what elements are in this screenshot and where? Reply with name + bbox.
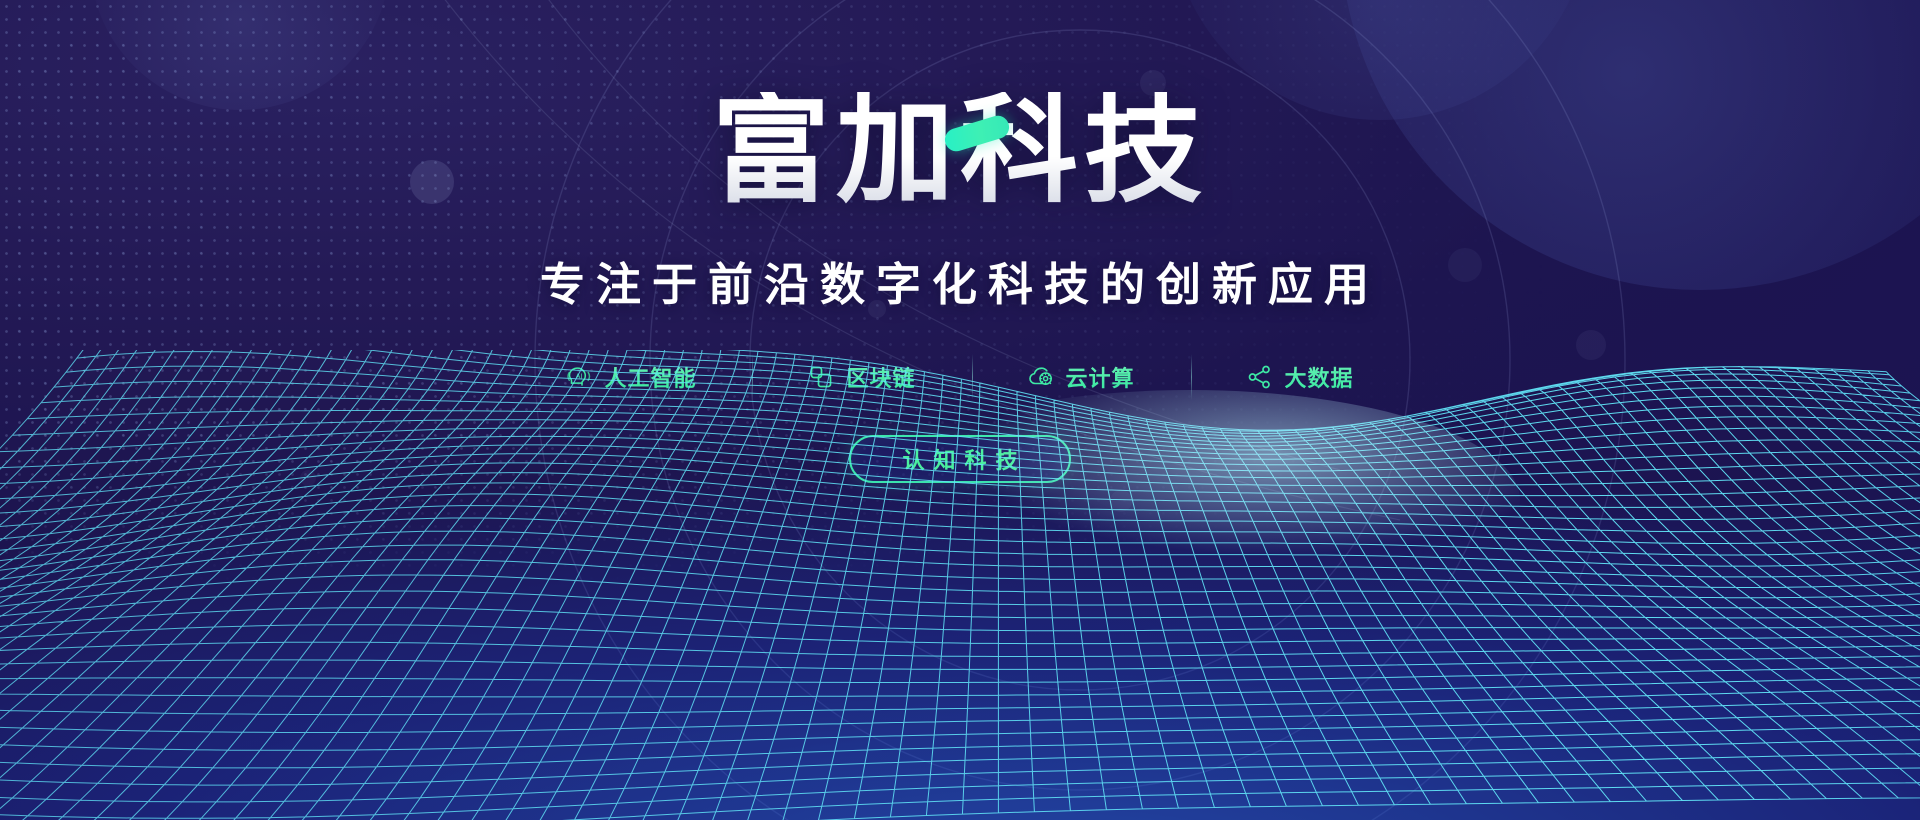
feature-tag-blockchain[interactable]: 区块链 — [752, 361, 971, 393]
bokeh-particle — [1110, 490, 1132, 512]
blockchain-blocks-icon — [808, 364, 834, 390]
cognitive-tech-button[interactable]: 认知科技 — [849, 435, 1070, 483]
feature-tag-label: 云计算 — [1066, 361, 1135, 393]
ai-head-icon: AI — [566, 364, 592, 390]
feature-tag-label: 人工智能 — [604, 361, 696, 393]
feature-tag-list: AI 人工智能 区块链 云计算 — [510, 361, 1409, 393]
feature-tag-bigdata[interactable]: 大数据 — [1191, 361, 1410, 393]
feature-tag-cloud[interactable]: 云计算 — [972, 361, 1191, 393]
hero-banner: 富加科技 专注于前沿数字化科技的创新应用 AI 人工智能 — [0, 0, 1920, 820]
brand-logo: 富加科技 — [712, 92, 1208, 214]
feature-tag-ai[interactable]: AI 人工智能 — [510, 361, 752, 393]
cloud-gear-icon — [1028, 364, 1054, 390]
feature-tag-label: 区块链 — [846, 361, 915, 393]
hero-tagline: 专注于前沿数字化科技的创新应用 — [540, 248, 1380, 313]
feature-tag-label: 大数据 — [1285, 361, 1354, 393]
share-network-icon — [1247, 364, 1273, 390]
hero-content: 富加科技 专注于前沿数字化科技的创新应用 AI 人工智能 — [0, 0, 1920, 483]
brand-logo-text: 富加科技 — [712, 92, 1208, 210]
svg-text:AI: AI — [576, 371, 583, 380]
